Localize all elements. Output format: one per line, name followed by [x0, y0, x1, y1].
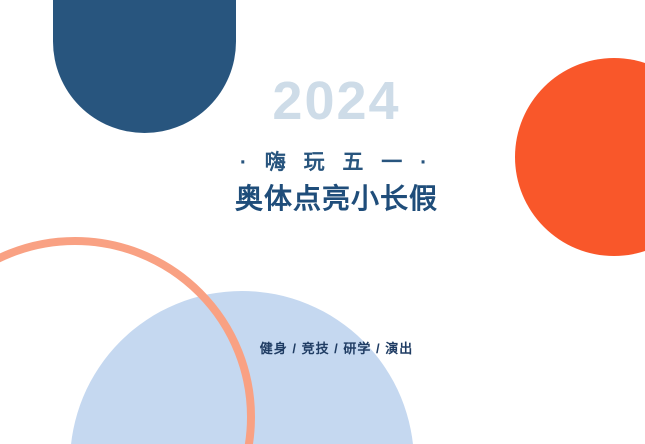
tagline: 健身 / 竞技 / 研学 / 演出 [0, 338, 645, 357]
headline-top-line: · 嗨 玩 五 一 · [28, 150, 645, 176]
year-watermark: 2024 [0, 74, 645, 128]
text-layer: 2024 · 嗨 玩 五 一 · 奥体点亮小长假 健身 / 竞技 / 研学 / … [0, 0, 645, 444]
poster-canvas: 2024 · 嗨 玩 五 一 · 奥体点亮小长假 健身 / 竞技 / 研学 / … [0, 0, 645, 444]
headline-main-line: 奥体点亮小长假 [28, 182, 645, 216]
headline-block: · 嗨 玩 五 一 · 奥体点亮小长假 [0, 150, 645, 216]
